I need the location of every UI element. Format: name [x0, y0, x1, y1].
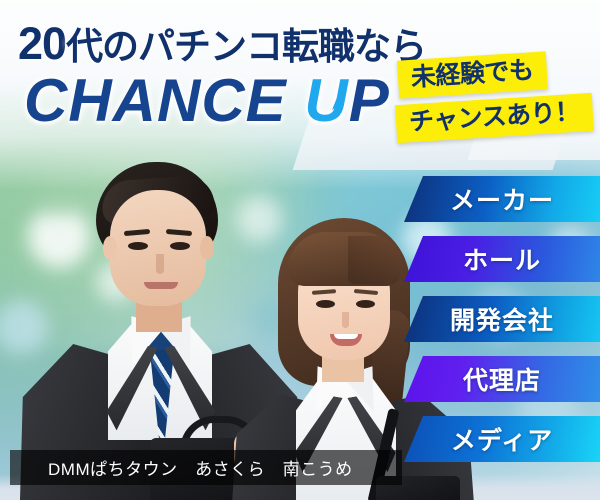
man-ear-right: [200, 236, 214, 260]
headline-number: 20: [18, 18, 66, 69]
promo-banner: 20代のパチンコ転職なら CHANCE UP 未経験でも チャンスあり！ メーカ…: [0, 0, 600, 500]
headline-line-1-text: 代のパチンコ転職なら: [66, 26, 426, 67]
highlight-badge: 未経験でも チャンスあり！: [398, 56, 600, 138]
category-label: 代理店: [463, 361, 541, 397]
headline-block: 20代のパチンコ転職なら CHANCE UP: [18, 20, 426, 131]
category-label: メディア: [451, 421, 553, 457]
headline-line-1: 20代のパチンコ転職なら: [18, 20, 426, 67]
category-label: 開発会社: [450, 301, 554, 337]
headline-p-letter: P: [349, 67, 390, 134]
man-nose: [156, 254, 164, 274]
man-mouth: [144, 282, 178, 289]
caption-text: DMMぱちタウン あさくら 南こうめ: [48, 455, 353, 480]
caption-bar: DMMぱちタウン あさくら 南こうめ: [10, 450, 402, 485]
headline-u-letter: U: [304, 67, 348, 134]
woman-eye-left: [316, 300, 335, 308]
woman-nose: [342, 312, 349, 328]
man-eye-right: [170, 242, 190, 250]
category-button-development[interactable]: 開発会社: [404, 296, 600, 342]
man-eye-left: [128, 242, 148, 250]
man-ear-left: [103, 236, 117, 260]
category-button-hall[interactable]: ホール: [404, 236, 600, 282]
woman-eye-right: [356, 300, 375, 308]
category-button-agency[interactable]: 代理店: [404, 356, 600, 402]
badge-line-2: チャンスあり！: [395, 93, 594, 144]
badge-line-1: 未経験でも: [397, 51, 548, 98]
category-label: ホール: [463, 241, 541, 277]
headline-chance-text: CHANCE: [24, 67, 304, 134]
category-button-maker[interactable]: メーカー: [404, 176, 600, 222]
category-label: メーカー: [450, 181, 554, 217]
woman-bangs: [288, 232, 400, 286]
category-button-media[interactable]: メディア: [404, 416, 600, 462]
headline-line-2: CHANCE UP: [24, 71, 426, 131]
category-list: メーカー ホール 開発会社 代理店 メディア: [404, 176, 600, 476]
